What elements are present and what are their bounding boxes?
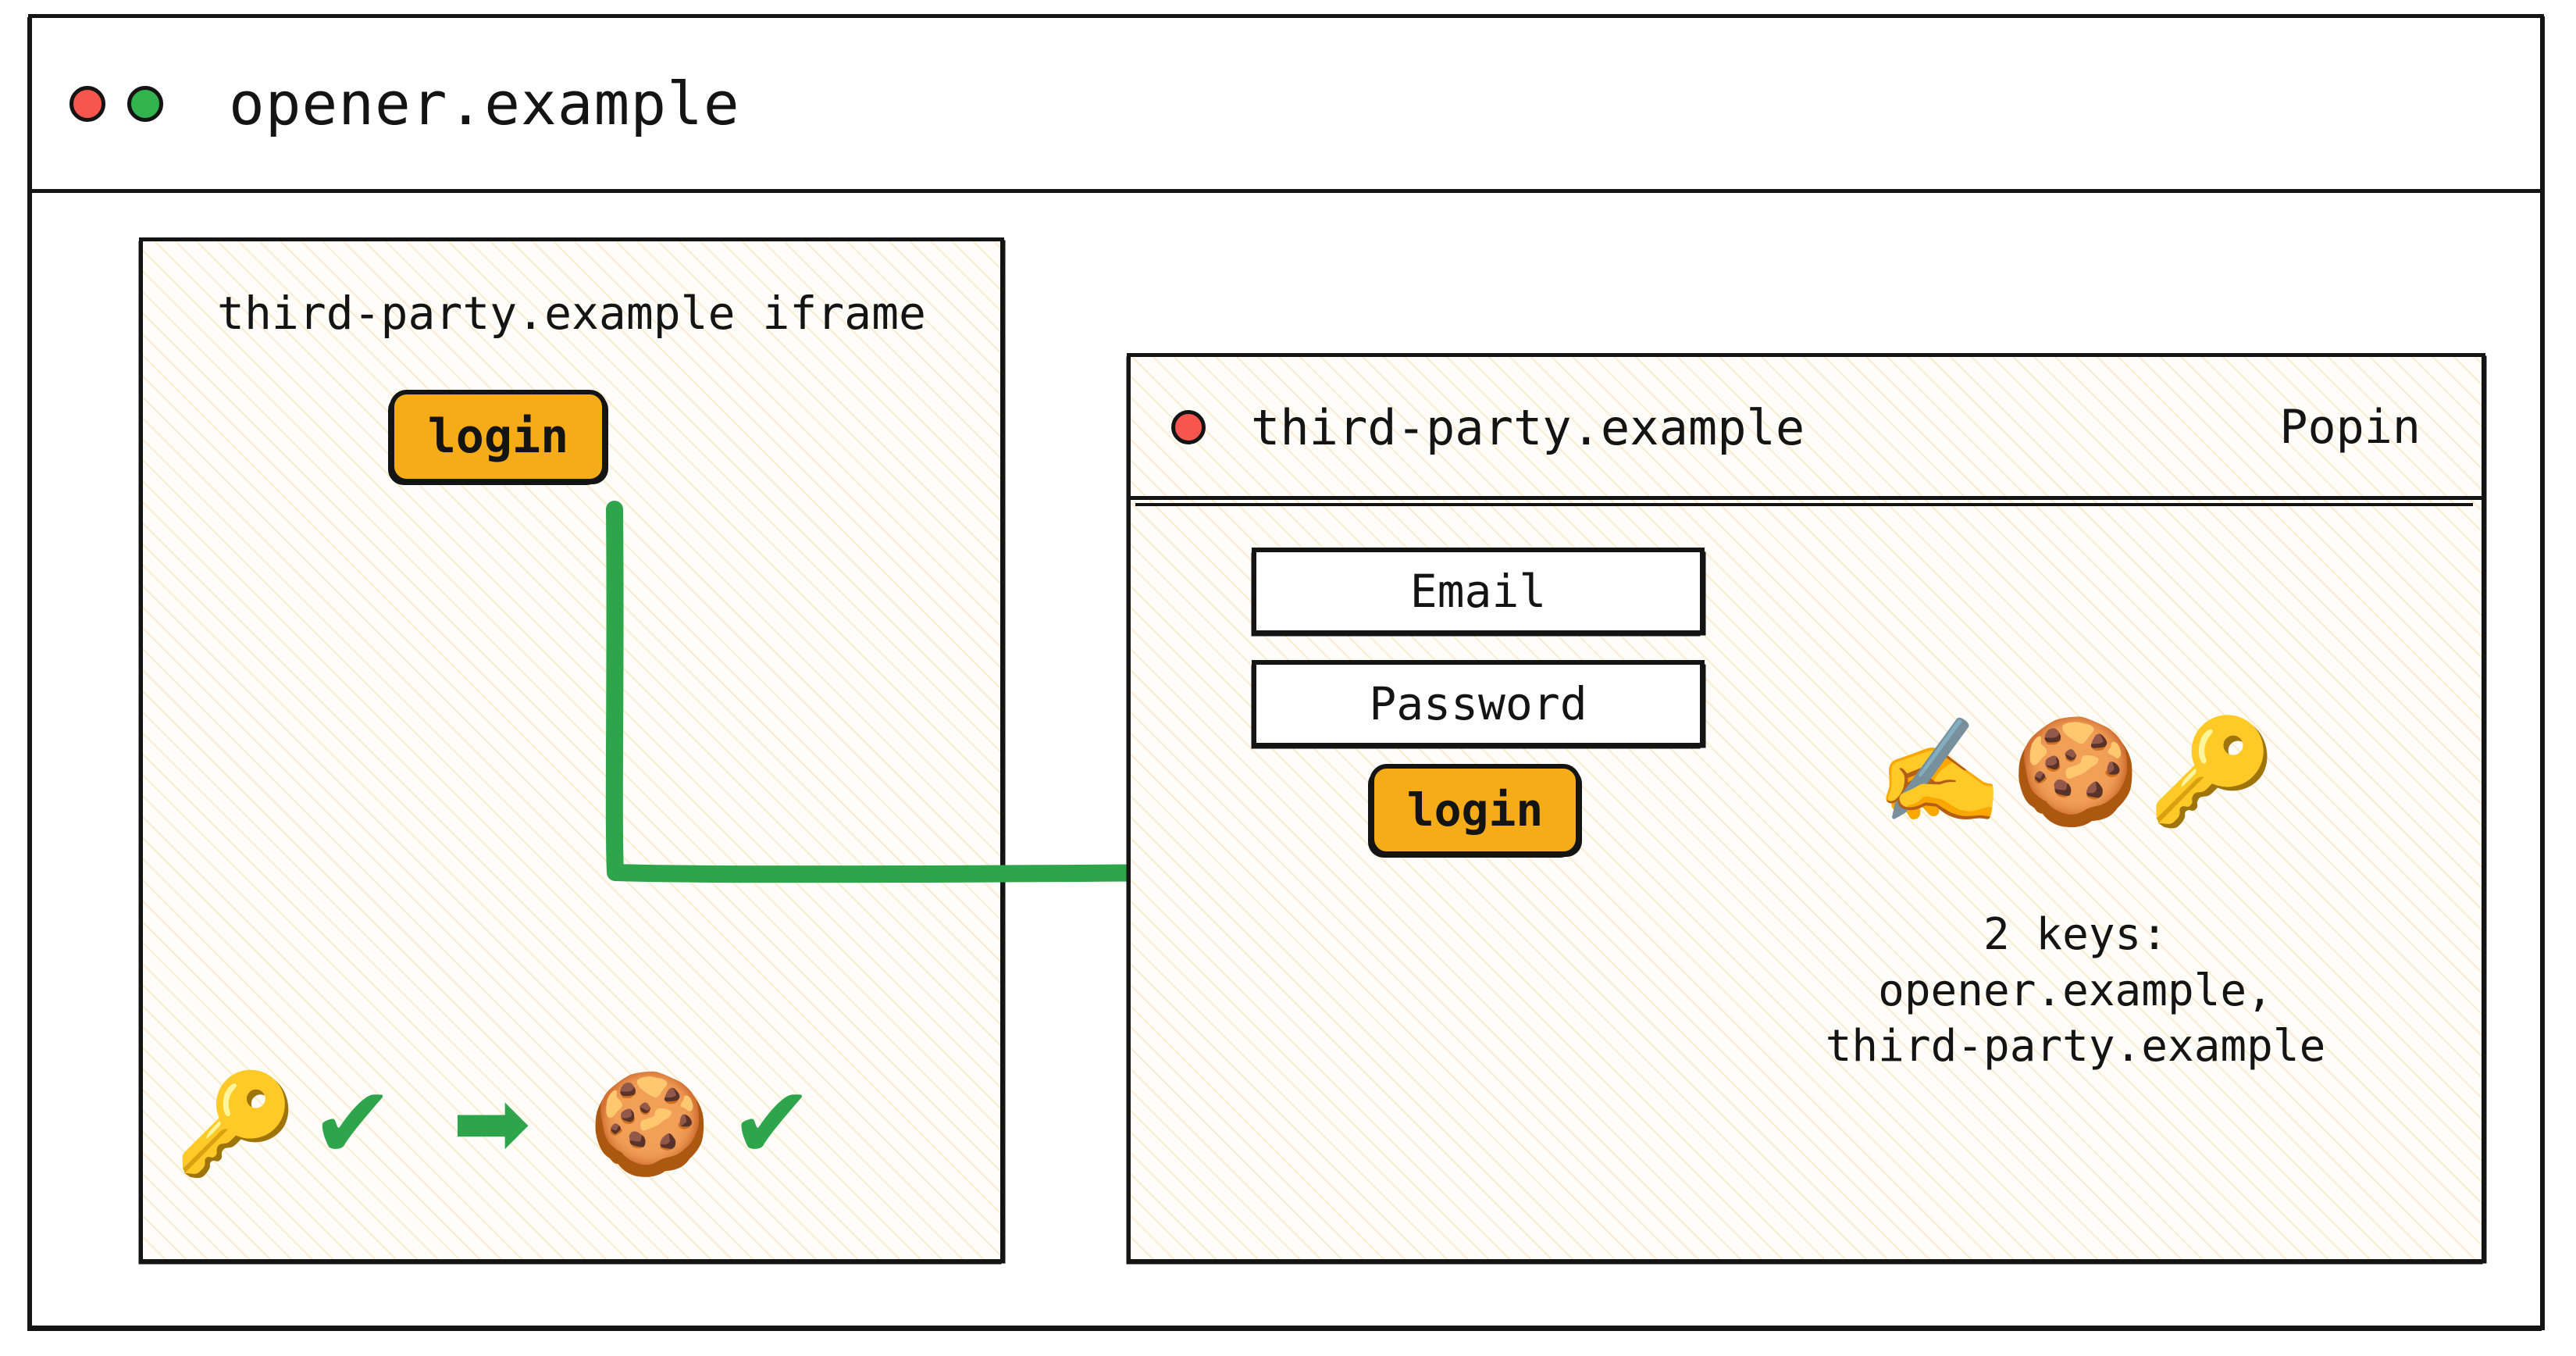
popin-popup-window: third-party.example Popin Email Password… [1127, 353, 2485, 1263]
page-title: opener.example [229, 69, 740, 138]
maximize-window-icon[interactable] [127, 86, 163, 122]
browser-viewport: third-party.example iframe login 🔑 ✔ ➡ 🍪… [32, 193, 2540, 1326]
iframe-login-button[interactable]: login [390, 390, 607, 484]
popup-title: third-party.example [1251, 399, 1805, 456]
key-check-icon: ✔ [311, 1074, 394, 1174]
popup-body: Email Password login ✍️ 🍪 🔑 2 keys: open… [1131, 502, 2482, 1259]
iframe-label: third-party.example iframe [143, 287, 1000, 340]
cookie-check-icon: ✔ [730, 1074, 814, 1174]
third-party-iframe-panel: third-party.example iframe login 🔑 ✔ ➡ 🍪… [139, 237, 1004, 1263]
popup-login-button[interactable]: login [1370, 764, 1580, 856]
browser-title-bar: opener.example [32, 18, 2540, 193]
browser-window: opener.example third-party.example ifram… [28, 14, 2544, 1329]
key-icon: 🔑 [2147, 720, 2275, 823]
iframe-storage-status-row: 🔑 ✔ ➡ 🍪 ✔ [174, 1034, 971, 1214]
close-window-icon[interactable] [69, 86, 105, 122]
keys-note: 2 keys: opener.example, third-party.exam… [1724, 907, 2427, 1075]
popup-header-divider [1131, 496, 2482, 500]
writing-hand-icon: ✍️ [1875, 720, 2003, 823]
storage-flow-arrow-icon: ➡ [452, 1077, 531, 1171]
email-field[interactable]: Email [1252, 548, 1705, 635]
password-field[interactable]: Password [1252, 660, 1705, 748]
popup-close-icon[interactable] [1171, 410, 1206, 444]
key-icon: 🔑 [174, 1075, 297, 1173]
popup-kind-label: Popin [2279, 400, 2421, 455]
cookie-icon: 🍪 [589, 1075, 711, 1173]
popup-title-bar: third-party.example Popin [1131, 357, 2482, 498]
popup-credentials-illustration: ✍️ 🍪 🔑 [1724, 674, 2427, 869]
cookie-icon: 🍪 [2011, 720, 2140, 823]
